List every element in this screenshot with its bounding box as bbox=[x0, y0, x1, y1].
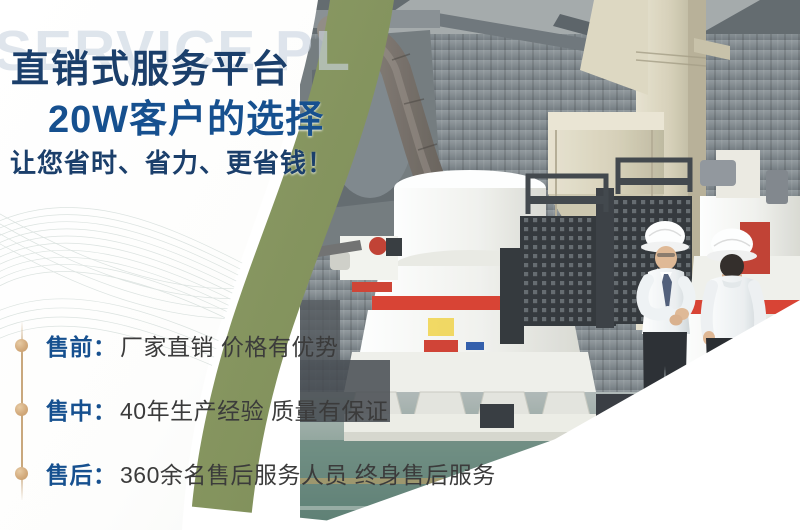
service-label-insale: 售中： bbox=[46, 392, 117, 426]
headline-line-3: 让您省时、省力、更省钱！ bbox=[10, 143, 334, 180]
bullet-dot-icon bbox=[15, 467, 28, 480]
promo-banner: SERVICE PL 直销式服务平台 20W客户的选择 让您省时、省力、更省钱！… bbox=[0, 0, 800, 530]
headline-line-2: 20W客户的选择 bbox=[48, 88, 324, 143]
service-text-aftersale: 360余名售后服务人员 终身售后服务 bbox=[120, 456, 496, 490]
bullet-dot-icon bbox=[15, 339, 28, 352]
service-text-presale: 厂家直销 价格有优势 bbox=[120, 328, 338, 362]
service-text-insale: 40年生产经验 质量有保证 bbox=[120, 392, 388, 426]
service-label-presale: 售前： bbox=[46, 328, 117, 362]
banner-content: SERVICE PL 直销式服务平台 20W客户的选择 让您省时、省力、更省钱！… bbox=[0, 0, 800, 530]
service-label-aftersale: 售后： bbox=[46, 456, 117, 490]
headline-line-1: 直销式服务平台 bbox=[11, 38, 291, 93]
bullet-dot-icon bbox=[15, 403, 28, 416]
